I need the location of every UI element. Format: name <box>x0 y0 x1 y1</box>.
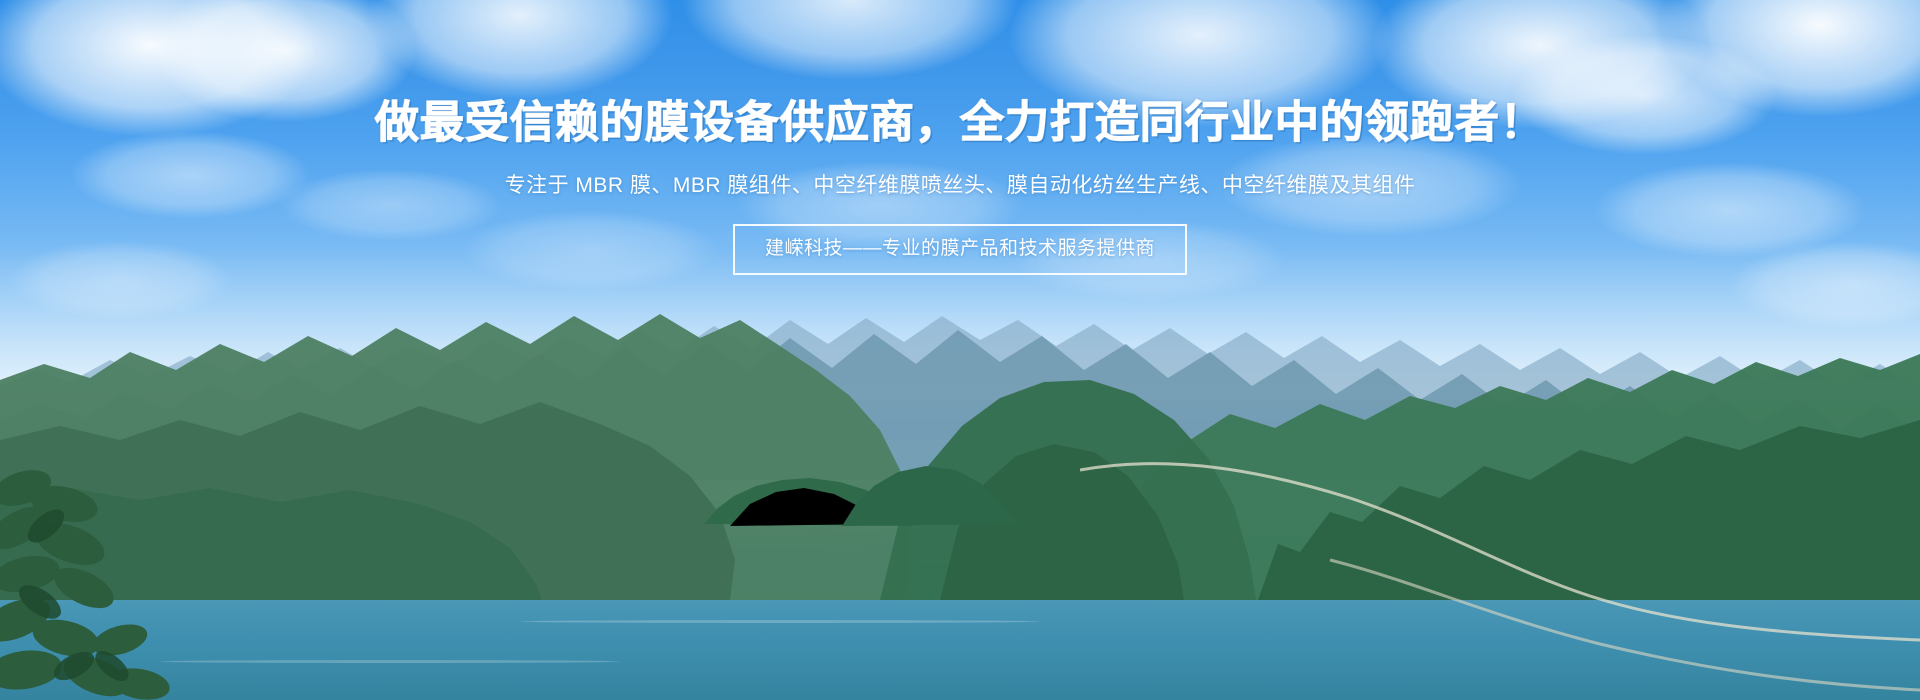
hero-banner: 做最受信赖的膜设备供应商，全力打造同行业中的领跑者！ 专注于 MBR 膜、MBR… <box>0 0 1920 700</box>
banner-text-overlay: 做最受信赖的膜设备供应商，全力打造同行业中的领跑者！ 专注于 MBR 膜、MBR… <box>0 0 1920 700</box>
page-title: 做最受信赖的膜设备供应商，全力打造同行业中的领跑者！ <box>375 100 1545 146</box>
banner-subtitle: 专注于 MBR 膜、MBR 膜组件、中空纤维膜喷丝头、膜自动化纺丝生产线、中空纤… <box>505 173 1416 199</box>
banner-tagline-box: 建嵘科技——专业的膜产品和技术服务提供商 <box>733 224 1187 275</box>
